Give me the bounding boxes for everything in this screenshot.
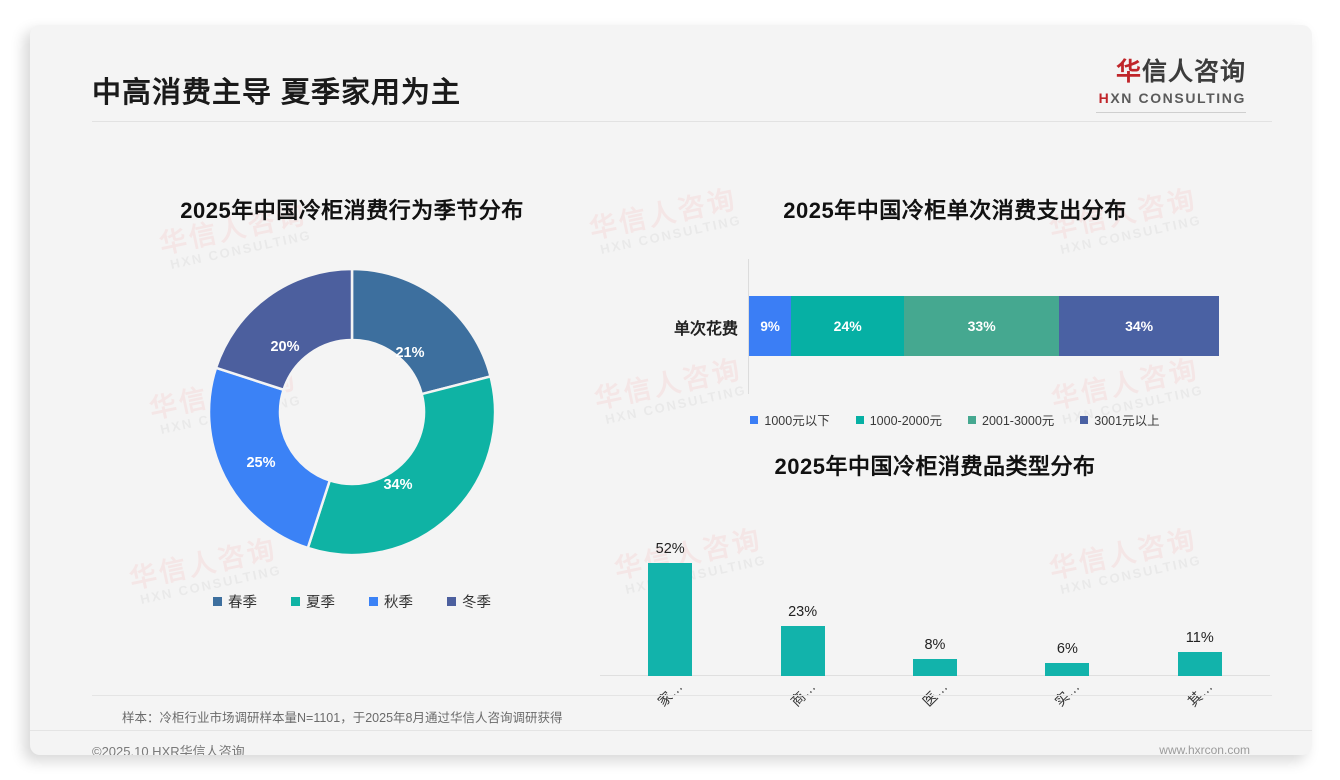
legend-label: 夏季 — [306, 591, 335, 612]
product-bar-column-2[interactable]: 8% — [891, 511, 979, 676]
spend-plot-area: 单次花费 9%24%33%34% — [630, 259, 1280, 394]
legend-label: 1000-2000元 — [870, 410, 942, 429]
product-plot-area: 52%23%8%6%11% — [590, 511, 1280, 676]
footnote-divider — [92, 695, 1272, 696]
spend-legend: 1000元以下1000-2000元2001-3000元3001元以上 — [630, 410, 1280, 429]
season-legend-item-3[interactable]: 冬季 — [447, 591, 491, 612]
spend-legend-item-1[interactable]: 1000-2000元 — [856, 410, 942, 429]
product-type-chart: 2025年中国冷柜消费品类型分布 52%23%8%6%11% 家…商…医…实…其… — [590, 435, 1280, 705]
page-title: 中高消费主导 夏季家用为主 — [92, 69, 461, 111]
logo-english-red: H — [1099, 90, 1111, 106]
donut-slice-1[interactable] — [308, 376, 495, 555]
logo-chinese: 华信人咨询 — [1096, 59, 1246, 87]
product-bar-value-0: 52% — [656, 541, 685, 557]
legend-label: 3001元以上 — [1094, 410, 1159, 429]
product-bar-column-1[interactable]: 23% — [759, 511, 847, 676]
product-category-label-1: 商… — [786, 677, 820, 711]
brand-logo: 华信人咨询 HXN CONSULTING — [1096, 59, 1250, 113]
logo-chinese-rest: 信人咨询 — [1142, 58, 1246, 86]
legend-label: 冬季 — [462, 591, 491, 612]
spend-legend-item-2[interactable]: 2001-3000元 — [968, 410, 1054, 429]
product-category-label-2: 医… — [918, 677, 952, 711]
season-legend-item-2[interactable]: 秋季 — [369, 591, 413, 612]
donut-svg — [207, 267, 497, 557]
legend-label: 1000元以下 — [764, 410, 829, 429]
product-chart-title: 2025年中国冷柜消费品类型分布 — [590, 449, 1280, 481]
donut-label-1: 34% — [383, 477, 412, 493]
product-bar-column-3[interactable]: 6% — [1023, 511, 1111, 676]
legend-swatch-icon — [750, 416, 758, 424]
season-distribution-chart: 2025年中国冷柜消费行为季节分布 21% 34% 25% 20% 春季夏季秋季… — [92, 175, 612, 675]
spend-distribution-chart: 2025年中国冷柜单次消费支出分布 单次花费 9%24%33%34% 1000元… — [630, 175, 1280, 415]
legend-swatch-icon — [369, 597, 378, 606]
legend-label: 2001-3000元 — [982, 410, 1054, 429]
spend-stacked-bar: 9%24%33%34% — [749, 296, 1219, 356]
legend-label: 春季 — [228, 591, 257, 612]
season-legend: 春季夏季秋季冬季 — [92, 591, 612, 612]
logo-english-rest: XN CONSULTING — [1110, 90, 1246, 106]
product-category-label-0: 家… — [653, 677, 687, 711]
logo-chinese-red: 华 — [1116, 58, 1142, 86]
sample-footnote: 样本：冷柜行业市场调研样本量N=1101，于2025年8月通过华信人咨询调研获得 — [122, 707, 562, 726]
spend-segment-3[interactable]: 34% — [1059, 296, 1219, 356]
footer-divider — [30, 730, 1312, 731]
legend-swatch-icon — [1080, 416, 1088, 424]
product-category-cell-2: 医… — [891, 678, 979, 730]
spend-segment-1[interactable]: 24% — [791, 296, 904, 356]
product-category-cell-0: 家… — [626, 678, 714, 730]
product-bar-value-2: 8% — [924, 637, 945, 653]
slide-canvas: 华信人咨询 HXN CONSULTING 华信人咨询 HXN CONSULTIN… — [30, 25, 1312, 755]
product-bar-rect-4[interactable] — [1178, 652, 1222, 676]
product-bar-column-4[interactable]: 11% — [1156, 511, 1244, 676]
product-bar-column-0[interactable]: 52% — [626, 511, 714, 676]
header-divider — [92, 121, 1272, 122]
spend-legend-item-0[interactable]: 1000元以下 — [750, 410, 829, 429]
logo-english: HXN CONSULTING — [1096, 90, 1246, 106]
spend-category-label: 单次花费 — [630, 315, 738, 339]
legend-swatch-icon — [213, 597, 222, 606]
product-category-label-3: 实… — [1050, 677, 1084, 711]
product-category-axis: 家…商…医…实…其… — [590, 678, 1280, 730]
product-bar-value-4: 11% — [1186, 630, 1214, 646]
product-bar-rect-1[interactable] — [781, 626, 825, 676]
donut-label-3: 20% — [270, 339, 299, 355]
season-legend-item-0[interactable]: 春季 — [213, 591, 257, 612]
product-category-cell-1: 商… — [759, 678, 847, 730]
product-category-label-4: 其… — [1183, 677, 1217, 711]
spend-chart-title: 2025年中国冷柜单次消费支出分布 — [630, 193, 1280, 225]
donut-slice-3[interactable] — [216, 269, 352, 390]
product-bar-value-1: 23% — [788, 604, 817, 620]
spend-legend-item-3[interactable]: 3001元以上 — [1080, 410, 1159, 429]
product-category-cell-3: 实… — [1023, 678, 1111, 730]
legend-swatch-icon — [291, 597, 300, 606]
product-bar-value-3: 6% — [1057, 641, 1078, 657]
donut-label-2: 25% — [246, 455, 275, 471]
legend-label: 秋季 — [384, 591, 413, 612]
donut-chart: 21% 34% 25% 20% — [207, 267, 497, 557]
donut-label-0: 21% — [395, 345, 424, 361]
product-bar-rect-2[interactable] — [913, 659, 957, 676]
legend-swatch-icon — [447, 597, 456, 606]
product-bar-rect-0[interactable] — [648, 563, 692, 676]
logo-underline — [1096, 112, 1246, 113]
spend-segment-0[interactable]: 9% — [749, 296, 791, 356]
legend-swatch-icon — [968, 416, 976, 424]
product-bar-rect-3[interactable] — [1045, 663, 1089, 676]
website-link[interactable]: www.hxrcon.com — [1159, 743, 1250, 755]
legend-swatch-icon — [856, 416, 864, 424]
product-category-cell-4: 其… — [1156, 678, 1244, 730]
spend-segment-2[interactable]: 33% — [904, 296, 1059, 356]
copyright-text: ©2025.10 HXR华信人咨询 — [92, 741, 245, 755]
season-legend-item-1[interactable]: 夏季 — [291, 591, 335, 612]
donut-slice-0[interactable] — [352, 269, 491, 394]
season-chart-title: 2025年中国冷柜消费行为季节分布 — [92, 193, 612, 225]
slide-header: 中高消费主导 夏季家用为主 华信人咨询 HXN CONSULTING — [30, 25, 1312, 120]
